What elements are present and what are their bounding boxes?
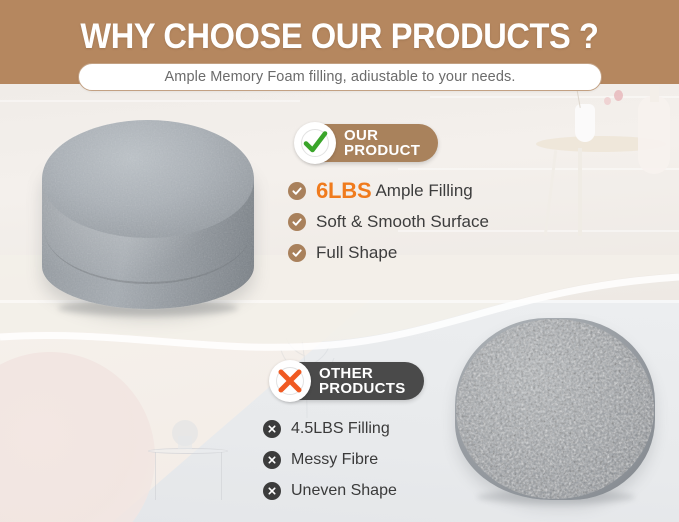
feature-label: Full Shape <box>316 243 397 263</box>
cross-mark-icon <box>269 360 311 402</box>
other-product-messy-texture <box>455 318 655 500</box>
cross-circle-icon <box>263 420 281 438</box>
other-product-badge-label: OTHER PRODUCTS <box>319 366 406 396</box>
background-flower-bloom <box>604 97 611 105</box>
background-flower-bloom <box>614 90 623 101</box>
our-product-fabric-texture <box>42 120 254 310</box>
list-item: Soft & Smooth Surface <box>288 207 489 237</box>
background-wall-line <box>0 100 300 102</box>
feature-label: Messy Fibre <box>291 451 378 469</box>
list-item: Uneven Shape <box>263 476 397 506</box>
product-comparison-infographic: WHY CHOOSE OUR PRODUCTS ? Ample Memory F… <box>0 0 679 522</box>
list-item: 4.5LBS Filling <box>263 414 397 444</box>
background-ghost-table-leg <box>221 452 222 500</box>
check-mark-icon <box>294 122 336 164</box>
list-item: Full Shape <box>288 238 489 268</box>
page-title: WHY CHOOSE OUR PRODUCTS ? <box>24 16 655 58</box>
our-product-image <box>32 112 264 324</box>
background-wall-line <box>430 96 679 98</box>
cross-circle-icon <box>263 451 281 469</box>
background-ghost-pot <box>178 436 192 449</box>
background-table-leg <box>578 148 582 236</box>
background-wall-line <box>398 168 679 170</box>
background-ghost-table-leg <box>155 452 156 500</box>
list-item: Messy Fibre <box>263 445 397 475</box>
feature-highlight: 6LBS <box>316 178 371 204</box>
other-product-badge: OTHER PRODUCTS <box>273 362 424 400</box>
subtitle-pill: Ample Memory Foam filling, adiustable to… <box>78 63 602 91</box>
our-product-feature-list: 6LBS Ample Filling Soft & Smooth Surface… <box>288 176 489 269</box>
check-circle-icon <box>288 182 306 200</box>
check-circle-icon <box>288 213 306 231</box>
feature-label: 4.5LBS Filling <box>291 420 390 438</box>
check-circle-icon <box>288 244 306 262</box>
feature-label: Soft & Smooth Surface <box>316 212 489 232</box>
other-product-image <box>455 318 655 504</box>
background-bottle-neck <box>650 86 659 102</box>
other-product-feature-list: 4.5LBS Filling Messy Fibre Uneven Shape <box>263 414 397 507</box>
our-product-badge: OUR PRODUCT <box>298 124 438 162</box>
feature-label: Ample Filling <box>375 181 472 201</box>
our-product-badge-label: OUR PRODUCT <box>344 128 420 158</box>
background-vase <box>575 104 595 142</box>
list-item: 6LBS Ample Filling <box>288 176 489 206</box>
cross-circle-icon <box>263 482 281 500</box>
background-bottle <box>638 96 670 174</box>
feature-label: Uneven Shape <box>291 482 397 500</box>
subtitle-text: Ample Memory Foam filling, adiustable to… <box>165 69 516 85</box>
